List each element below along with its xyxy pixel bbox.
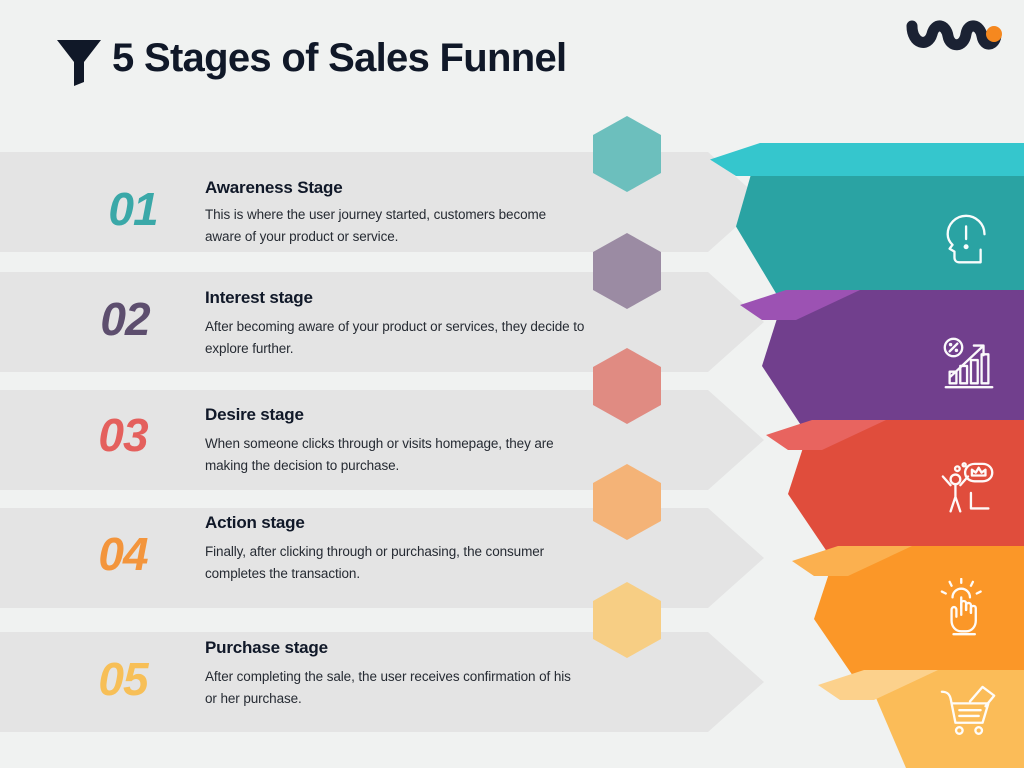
hand-click-icon bbox=[938, 578, 1000, 640]
funnel-band-01[interactable] bbox=[700, 143, 1024, 310]
funnel-band-05[interactable] bbox=[700, 670, 1024, 768]
stage-title-04: Action stage bbox=[205, 513, 305, 533]
stage-number-05: 05 bbox=[68, 652, 178, 706]
stage-description-02: After becoming aware of your product or … bbox=[205, 316, 585, 360]
stage-description-05: After completing the sale, the user rece… bbox=[205, 666, 585, 710]
page-title: 5 Stages of Sales Funnel bbox=[112, 36, 566, 81]
funnel-band-top-face bbox=[700, 143, 1024, 176]
stage-title-02: Interest stage bbox=[205, 288, 313, 308]
head-exclamation-icon bbox=[938, 209, 1000, 271]
stage-description-03: When someone clicks through or visits ho… bbox=[205, 433, 577, 477]
growth-chart-percent-icon bbox=[938, 332, 1000, 394]
stage-title-05: Purchase stage bbox=[205, 638, 328, 658]
stage-title-01: Awareness Stage bbox=[205, 178, 342, 198]
stage-description-01: This is where the user journey started, … bbox=[205, 204, 585, 248]
stage-number-01: 01 bbox=[78, 182, 188, 236]
stage-title-03: Desire stage bbox=[205, 405, 304, 425]
shopping-cart-icon bbox=[938, 684, 1000, 746]
funnel-graphic bbox=[700, 0, 1024, 768]
person-crown-idea-icon bbox=[938, 460, 1000, 522]
stage-description-04: Finally, after clicking through or purch… bbox=[205, 541, 585, 585]
funnel-icon bbox=[56, 38, 102, 86]
infographic-canvas: 5 Stages of Sales Funnel 01 Awareness St… bbox=[0, 0, 1024, 768]
stage-number-02: 02 bbox=[70, 292, 180, 346]
stage-number-03: 03 bbox=[68, 408, 178, 462]
stage-number-04: 04 bbox=[68, 527, 178, 581]
